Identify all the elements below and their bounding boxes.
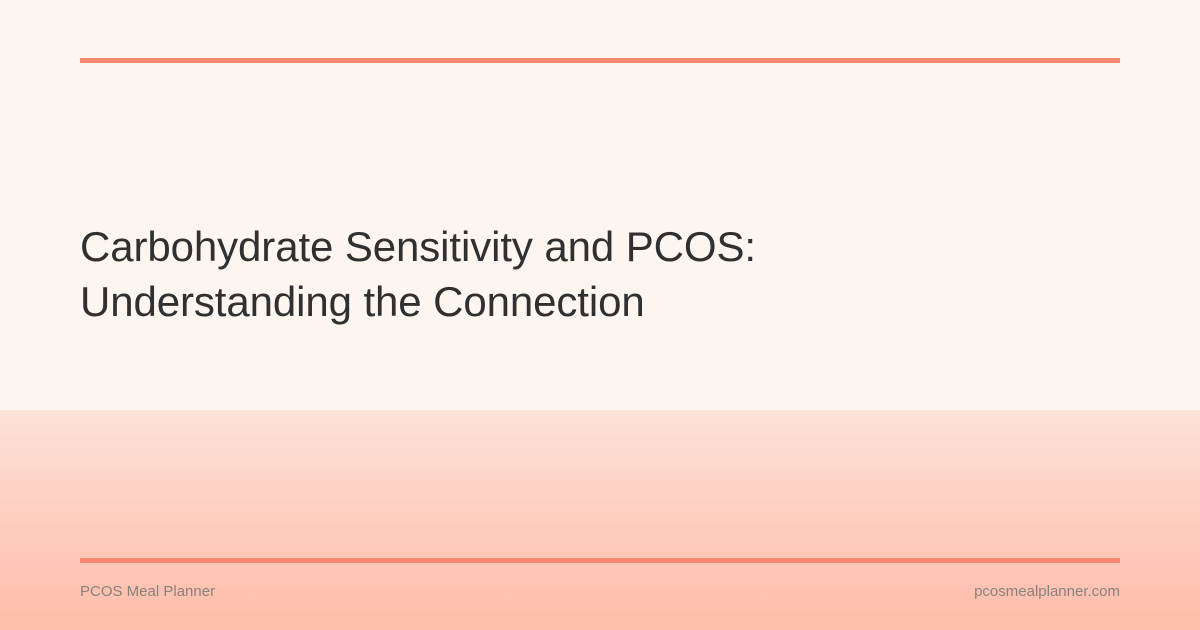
- footer: PCOS Meal Planner pcosmealplanner.com: [80, 581, 1120, 603]
- social-share-card: Carbohydrate Sensitivity and PCOS: Under…: [0, 0, 1200, 630]
- site-domain: pcosmealplanner.com: [974, 581, 1120, 603]
- page-title: Carbohydrate Sensitivity and PCOS: Under…: [80, 219, 1060, 329]
- top-accent-rule: [80, 58, 1120, 63]
- brand-name: PCOS Meal Planner: [80, 581, 215, 603]
- bottom-accent-rule: [80, 558, 1120, 563]
